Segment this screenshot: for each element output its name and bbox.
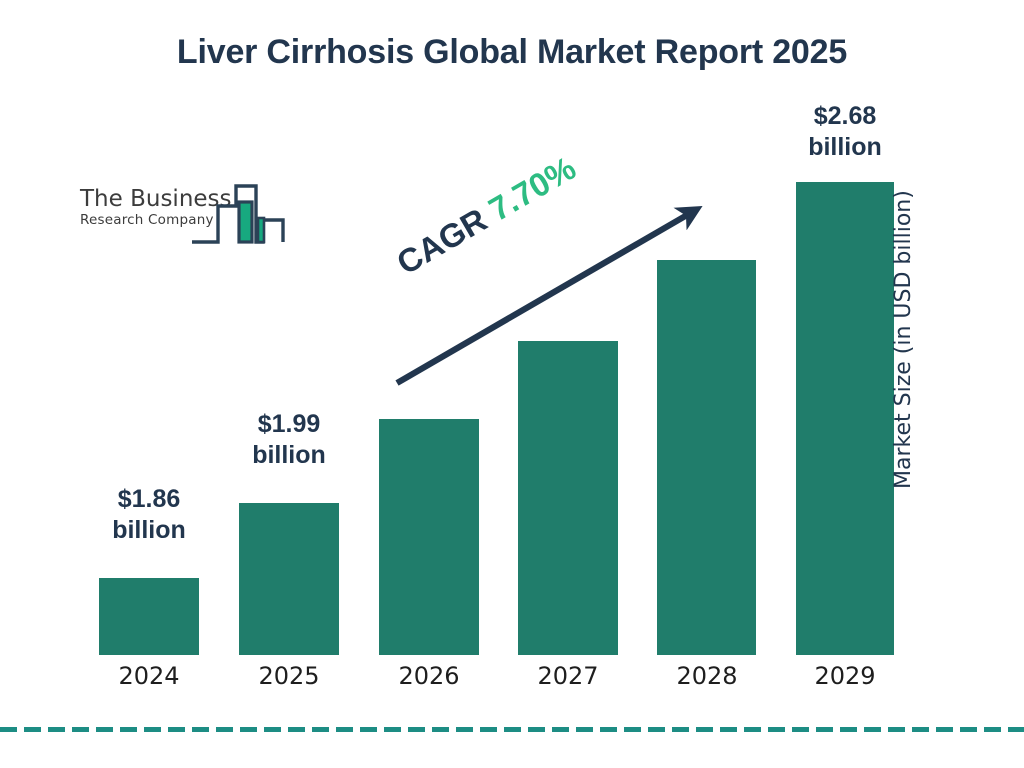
bar-label-2024: $1.86 billion — [79, 484, 219, 546]
x-tick-2027: 2027 — [508, 662, 628, 690]
x-tick-2029: 2029 — [785, 662, 905, 690]
cagr-value: 7.70% — [482, 149, 581, 228]
bar-2024[interactable] — [99, 578, 199, 655]
bar-label-2025: $1.99 billion — [219, 409, 359, 471]
footer-divider — [0, 727, 1024, 732]
x-tick-2025: 2025 — [229, 662, 349, 690]
bar-label-2025-value: $1.99 — [219, 409, 359, 440]
cagr-label: CAGR — [390, 196, 501, 281]
bar-2026[interactable] — [379, 419, 479, 655]
y-axis-title: Market Size (in USD billion) — [891, 149, 916, 489]
x-tick-2026: 2026 — [369, 662, 489, 690]
bar-label-2024-unit: billion — [79, 515, 219, 546]
x-tick-2028: 2028 — [647, 662, 767, 690]
bar-2028[interactable] — [657, 260, 756, 655]
bar-2029[interactable] — [796, 182, 894, 655]
bar-2025[interactable] — [239, 503, 339, 655]
bar-chart-plot: $1.86 billion $1.99 billion $2.68 billio… — [0, 0, 1024, 768]
bar-label-2029-value: $2.68 — [775, 101, 915, 132]
chart-canvas: Liver Cirrhosis Global Market Report 202… — [0, 0, 1024, 768]
bar-label-2025-unit: billion — [219, 440, 359, 471]
bar-2027[interactable] — [518, 341, 618, 655]
bar-label-2024-value: $1.86 — [79, 484, 219, 515]
x-tick-2024: 2024 — [89, 662, 209, 690]
cagr-annotation: CAGR 7.70% — [390, 149, 582, 282]
